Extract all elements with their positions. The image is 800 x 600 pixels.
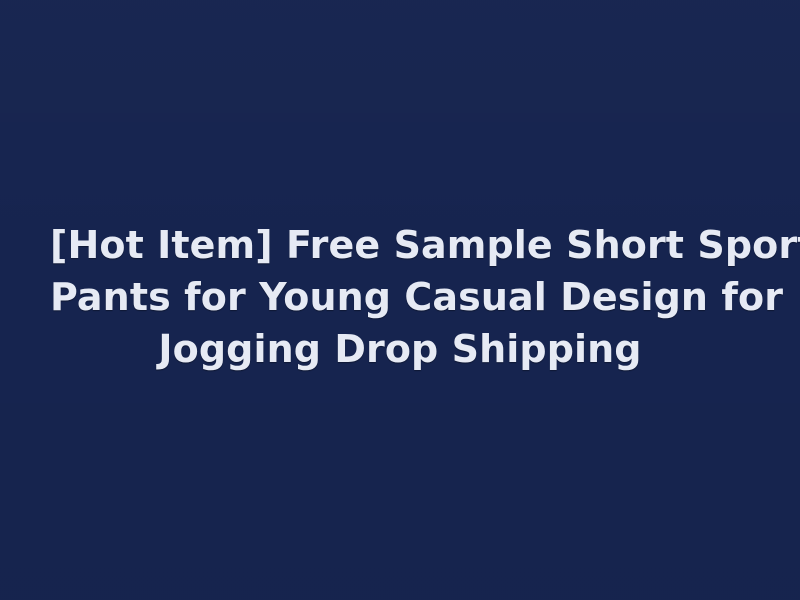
- product-title-line-3: Jogging Drop Shipping: [50, 323, 750, 375]
- product-title-card: [Hot Item] Free Sample Short Sports Pant…: [0, 0, 800, 600]
- product-title-line-2: Pants for Young Casual Design for: [50, 271, 750, 323]
- product-title-line-1: [Hot Item] Free Sample Short Sports: [50, 219, 750, 271]
- page-title: [Hot Item] Free Sample Short Sports Pant…: [50, 219, 750, 381]
